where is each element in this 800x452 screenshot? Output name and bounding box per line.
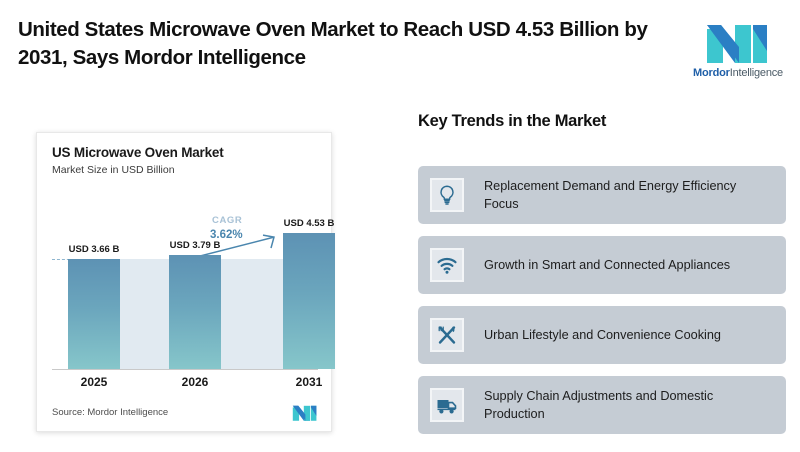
x-tick-2025: 2025 bbox=[64, 375, 124, 389]
chart-background-band bbox=[120, 259, 169, 369]
brand-logo: MordorIntelligence bbox=[686, 4, 790, 96]
trend-card-1[interactable]: Replacement Demand and Energy Efficiency… bbox=[418, 166, 786, 224]
trend-card-3[interactable]: Urban Lifestyle and Convenience Cooking bbox=[418, 306, 786, 364]
key-trends-heading: Key Trends in the Market bbox=[418, 112, 606, 131]
cagr-value: 3.62% bbox=[210, 229, 243, 241]
delivery-truck-icon-tile bbox=[430, 388, 464, 422]
chart-subtitle: Market Size in USD Billion bbox=[52, 164, 175, 176]
trend-label: Supply Chain Adjustments and Domestic Pr… bbox=[484, 387, 774, 423]
mordor-m-mark-icon bbox=[705, 21, 771, 63]
bar-value-label: USD 3.66 B bbox=[61, 244, 127, 255]
trend-card-2[interactable]: Growth in Smart and Connected Appliances bbox=[418, 236, 786, 294]
wifi-icon bbox=[436, 254, 458, 276]
page-title: United States Microwave Oven Market to R… bbox=[18, 16, 668, 73]
mordor-m-mark-icon bbox=[292, 404, 318, 421]
bar-2031 bbox=[283, 233, 335, 369]
x-tick-2031: 2031 bbox=[279, 375, 339, 389]
chart-title: US Microwave Oven Market bbox=[52, 145, 224, 160]
bar-chart-plot: CAGR 3.62% USD 3.66 B2025USD 3.79 B2026U… bbox=[52, 193, 318, 393]
chart-background-band bbox=[221, 259, 283, 369]
wifi-icon-tile bbox=[430, 248, 464, 282]
bar-value-label: USD 4.53 B bbox=[276, 218, 342, 229]
brand-logo-text: MordorIntelligence bbox=[693, 67, 783, 79]
x-tick-2026: 2026 bbox=[165, 375, 225, 389]
trend-card-4[interactable]: Supply Chain Adjustments and Domestic Pr… bbox=[418, 376, 786, 434]
chart-source-text: Source: Mordor Intelligence bbox=[52, 407, 168, 418]
bar-value-label: USD 3.79 B bbox=[162, 240, 228, 251]
x-axis-line bbox=[52, 369, 318, 370]
brand-word-mordor: Mordor bbox=[693, 67, 730, 79]
cagr-label: CAGR bbox=[212, 215, 242, 226]
trend-label: Growth in Smart and Connected Appliances bbox=[484, 256, 730, 274]
brand-word-intelligence: Intelligence bbox=[730, 67, 783, 79]
chart-source-row: Source: Mordor Intelligence bbox=[52, 404, 318, 421]
trend-label: Urban Lifestyle and Convenience Cooking bbox=[484, 326, 721, 344]
fork-knife-icon-tile bbox=[430, 318, 464, 352]
bar-2026 bbox=[169, 255, 221, 369]
market-chart-card: US Microwave Oven Market Market Size in … bbox=[36, 132, 332, 432]
delivery-truck-icon bbox=[436, 394, 458, 416]
bar-2025 bbox=[68, 259, 120, 369]
fork-knife-icon bbox=[436, 324, 458, 346]
lightbulb-icon-tile bbox=[430, 178, 464, 212]
trend-label: Replacement Demand and Energy Efficiency… bbox=[484, 177, 774, 213]
lightbulb-icon bbox=[436, 184, 458, 206]
